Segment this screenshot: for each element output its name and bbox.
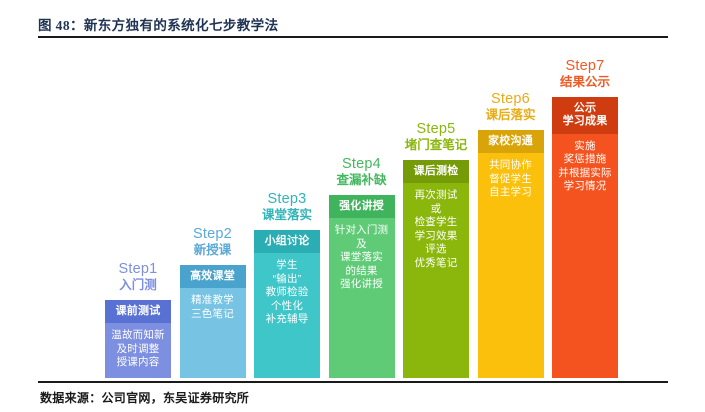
step-bar-body-5: 再次测试或检查学生学习效果评选优秀笔记 [403,183,469,270]
step-body-line: 学习效果 [405,230,467,243]
step-label-3: Step3课堂落实 [244,191,330,222]
figure-container: 图 48：新东方独有的系统化七步教学法 Step1入门测课前测试温故而知新及时调… [0,0,705,412]
step-bar-body-1: 温故而知新及时调整授课内容 [105,323,171,369]
step-body-line: 检查学生 [405,216,467,229]
step-body-line: 三色笔记 [182,308,244,321]
step-label-en-4: Step4 [319,156,405,172]
step-label-en-5: Step5 [393,121,479,137]
step-bar-body-7: 实施奖惩措施并根据实际学习情况 [552,134,618,194]
step-label-5: Step5堵门查笔记 [393,121,479,152]
step-label-1: Step1入门测 [95,261,181,292]
step-header-line: 课后测检 [405,165,467,178]
step-body-line: 优秀笔记 [405,257,467,270]
step-body-line: 的结果 [331,265,393,278]
step-body-line: 学生 [256,259,318,272]
step-body-line: 共同协作 [480,159,542,172]
step-body-line: “输出” [256,273,318,286]
step-body-line: 评选 [405,243,467,256]
step-header-line: 课前测试 [107,305,169,318]
step-label-en-7: Step7 [542,58,628,74]
step-bar-6[interactable]: 家校沟通共同协作督促学生自主学习 [478,130,544,378]
step-body-line: 及时调整 [107,343,169,356]
step-label-7: Step7结果公示 [542,58,628,89]
step-label-cn-5: 堵门查笔记 [393,138,479,152]
chart-plot-area: Step1入门测课前测试温故而知新及时调整授课内容Step2新授课高效课堂精准教… [0,40,705,381]
step-body-line: 授课内容 [107,356,169,369]
step-body-line: 或 [405,203,467,216]
step-label-cn-4: 查漏补缺 [319,173,405,187]
step-body-line: 并根据实际 [554,167,616,180]
step-label-en-1: Step1 [95,261,181,277]
step-bar-3[interactable]: 小组讨论学生“输出”教师检验个性化补充辅导 [254,230,320,378]
step-body-line: 及 [331,238,393,251]
step-body-line: 督促学生 [480,173,542,186]
step-bar-header-2: 高效课堂 [180,265,246,288]
step-label-4: Step4查漏补缺 [319,156,405,187]
step-bar-header-1: 课前测试 [105,300,171,323]
step-bar-header-7: 公示学习成果 [552,97,618,134]
source-divider [38,381,668,383]
step-body-line: 自主学习 [480,186,542,199]
step-label-6: Step6课后落实 [468,91,554,122]
step-bar-5[interactable]: 课后测检再次测试或检查学生学习效果评选优秀笔记 [403,160,469,378]
step-body-line: 课堂落实 [331,251,393,264]
step-bar-header-6: 家校沟通 [478,130,544,153]
step-header-line: 小组讨论 [256,235,318,248]
step-label-en-2: Step2 [170,226,256,242]
step-bar-body-3: 学生“输出”教师检验个性化补充辅导 [254,253,320,326]
step-body-line: 温故而知新 [107,329,169,342]
step-label-cn-3: 课堂落实 [244,208,330,222]
step-body-line: 学习情况 [554,180,616,193]
step-body-line: 再次测试 [405,189,467,202]
step-body-line: 补充辅导 [256,313,318,326]
step-body-line: 教师检验 [256,286,318,299]
step-body-line: 实施 [554,140,616,153]
page-title: 图 48：新东方独有的系统化七步教学法 [38,14,668,34]
step-bar-4[interactable]: 强化讲授针对入门测及课堂落实的结果强化讲授 [329,195,395,378]
step-label-en-6: Step6 [468,91,554,107]
step-body-line: 精准教学 [182,294,244,307]
step-bar-header-4: 强化讲授 [329,195,395,218]
step-label-cn-7: 结果公示 [542,75,628,89]
step-label-2: Step2新授课 [170,226,256,257]
step-label-cn-2: 新授课 [170,243,256,257]
step-label-cn-6: 课后落实 [468,108,554,122]
step-bar-body-6: 共同协作督促学生自主学习 [478,153,544,199]
title-divider [38,36,668,38]
step-bar-7[interactable]: 公示学习成果实施奖惩措施并根据实际学习情况 [552,97,618,378]
step-bar-body-4: 针对入门测及课堂落实的结果强化讲授 [329,218,395,291]
source-note: 数据来源：公司官网，东吴证券研究所 [40,389,249,406]
step-body-line: 奖惩措施 [554,153,616,166]
step-label-cn-1: 入门测 [95,278,181,292]
step-header-line: 学习成果 [554,115,616,128]
figure-title-row: 图 48：新东方独有的系统化七步教学法 [38,14,668,34]
step-bar-header-3: 小组讨论 [254,230,320,253]
step-bar-2[interactable]: 高效课堂精准教学三色笔记 [180,265,246,378]
step-header-line: 公示 [554,102,616,115]
step-header-line: 高效课堂 [182,270,244,283]
step-body-line: 针对入门测 [331,224,393,237]
step-header-line: 家校沟通 [480,135,542,148]
step-bar-header-5: 课后测检 [403,160,469,183]
step-bar-1[interactable]: 课前测试温故而知新及时调整授课内容 [105,300,171,378]
step-bar-body-2: 精准教学三色笔记 [180,288,246,321]
step-body-line: 个性化 [256,300,318,313]
step-label-en-3: Step3 [244,191,330,207]
step-header-line: 强化讲授 [331,200,393,213]
step-body-line: 强化讲授 [331,278,393,291]
